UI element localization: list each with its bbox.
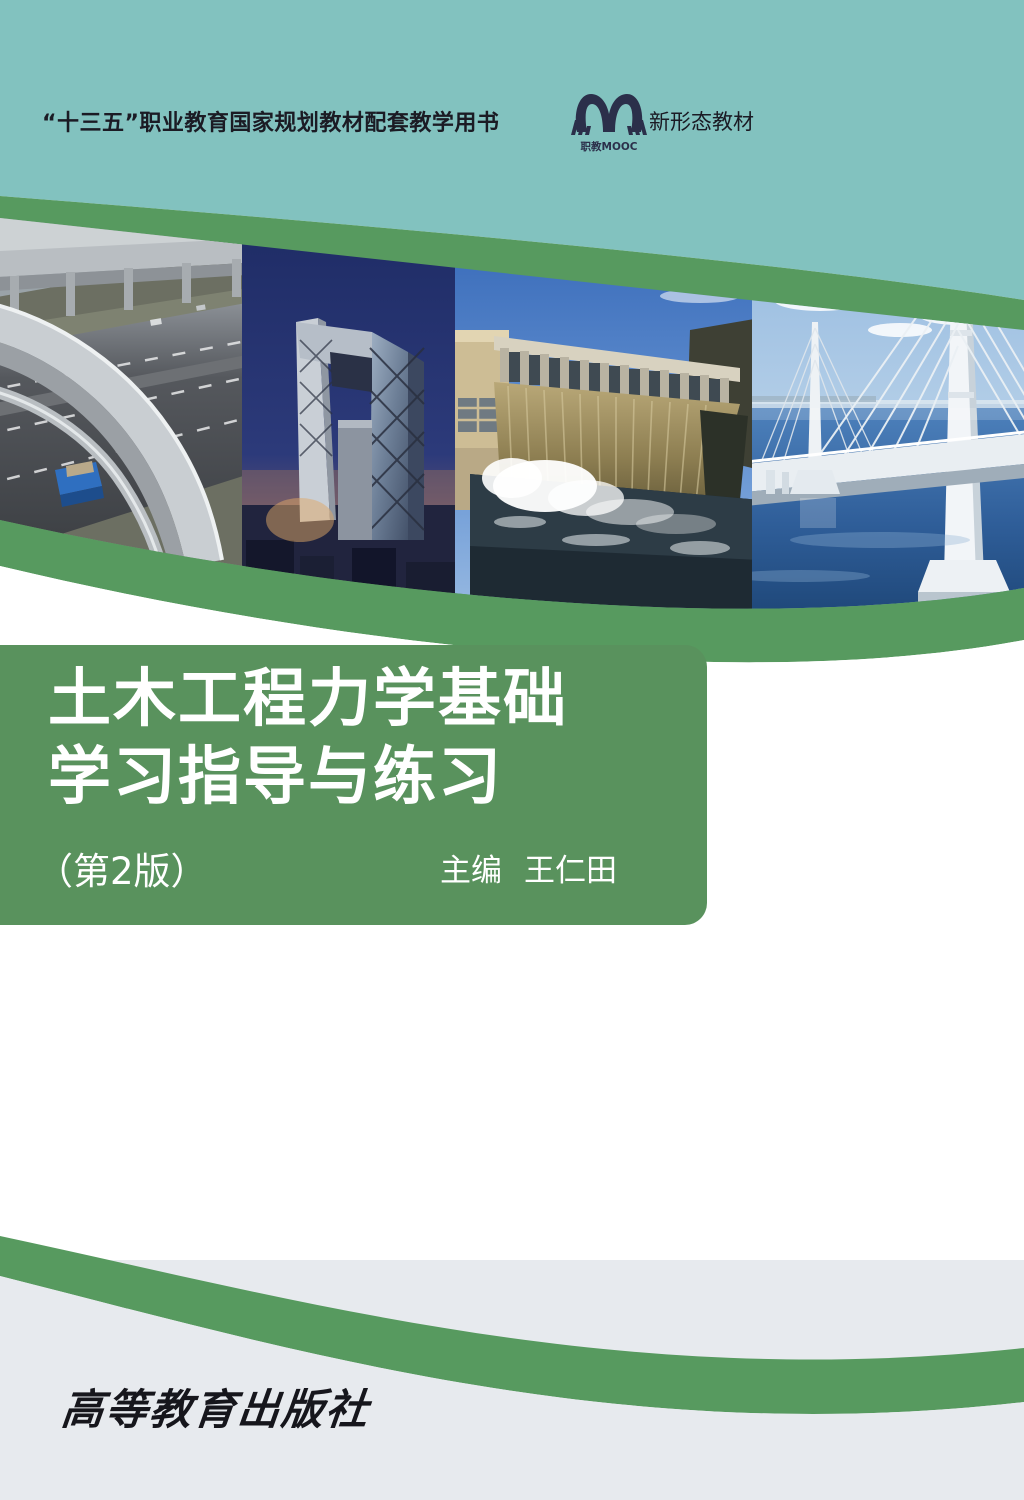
edition-label: （第2版） [36,841,208,895]
book-cover: “十三五”职业教育国家规划教材配套教学用书 职教MOOC [0,0,1024,1500]
series-label: “十三五”职业教育国家规划教材配套教学用书 [42,105,499,137]
author-credit: 主编王仁田 [440,845,617,890]
mooc-logo: 职教MOOC [563,90,655,152]
top-banner: “十三五”职业教育国家规划教材配套教学用书 职教MOOC [0,86,1024,156]
zhijiao-mooc-logo-icon [569,90,649,136]
book-title-line-1: 土木工程力学基础 [48,667,568,730]
mooc-logo-caption: 职教MOOC [580,139,637,154]
book-title-line-2: 学习指导与练习 [48,745,503,808]
new-form-label: 新形态教材 [649,106,754,136]
author-name: 王仁田 [524,853,617,889]
author-role-label: 主编 [440,853,502,889]
publisher-name: 高等教育出版社 [59,1376,373,1437]
title-block: 土木工程力学基础 学习指导与练习 （第2版） 主编王仁田 [0,645,707,925]
